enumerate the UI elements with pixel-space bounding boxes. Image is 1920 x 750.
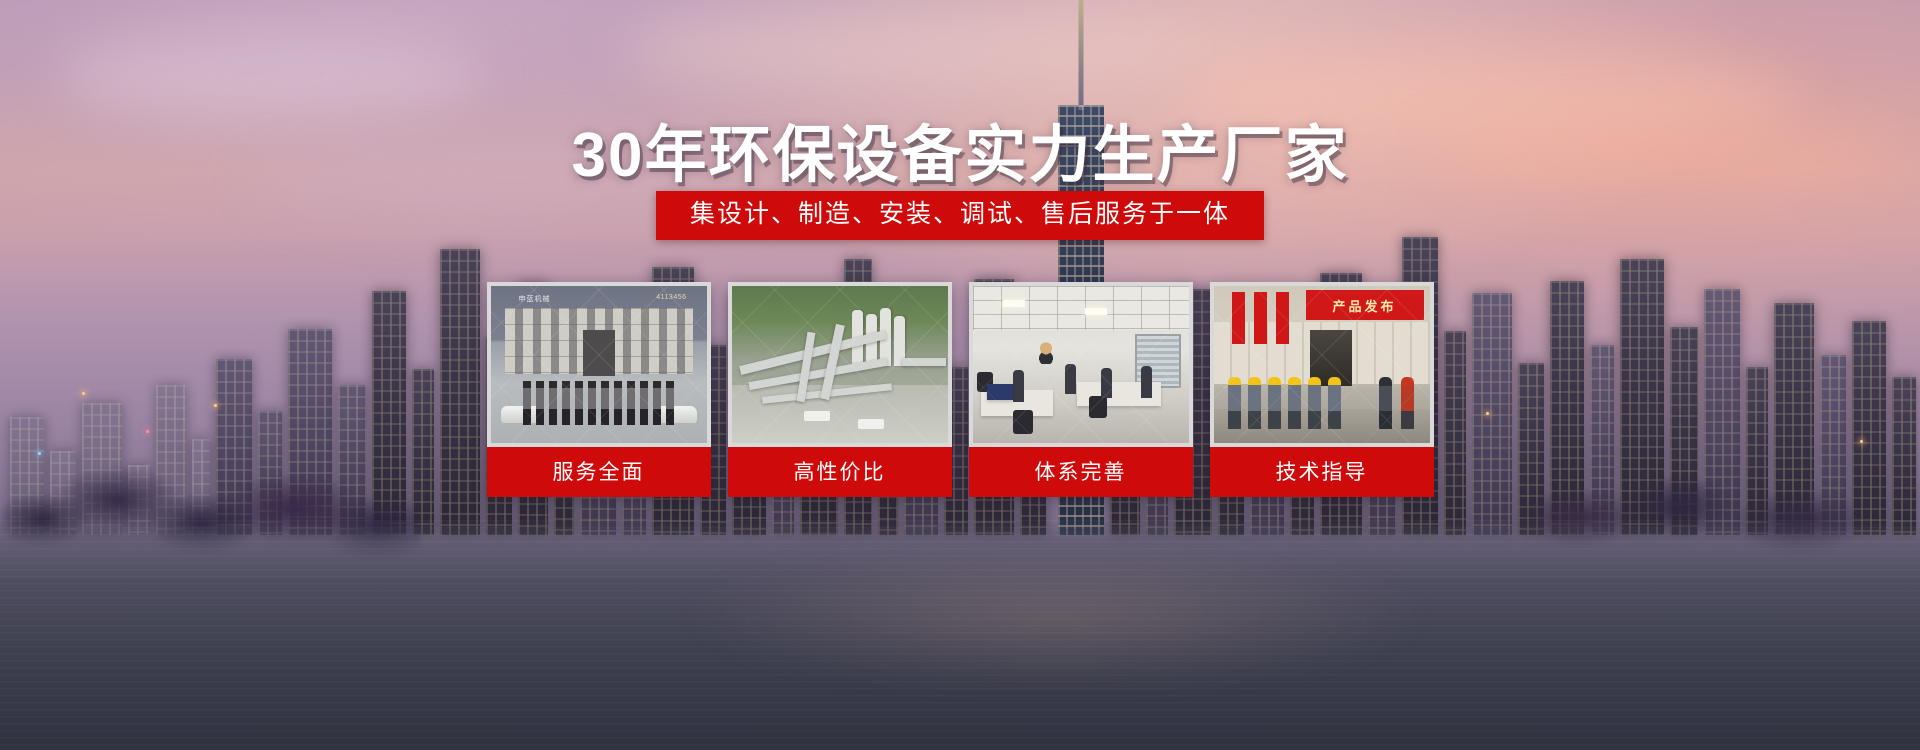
feature-card-caption: 高性价比 xyxy=(728,447,952,497)
subtitle-ribbon: 集设计、制造、安装、调试、售后服务于一体 xyxy=(656,191,1264,240)
feature-card[interactable]: 申蓝机械 4113456 服务全面 xyxy=(487,282,711,497)
office-interior-photo xyxy=(973,286,1189,443)
hero-banner: 30年环保设备实力生产厂家 集设计、制造、安装、调试、售后服务于一体 申蓝机械 … xyxy=(0,0,1920,750)
feature-card[interactable]: 体系完善 xyxy=(969,282,1193,497)
building-sign-label: 申蓝机械 xyxy=(519,294,551,304)
factory-gate-workers-photo: 产品发布 xyxy=(1214,286,1430,443)
company-building-staff-photo: 申蓝机械 4113456 xyxy=(491,286,707,443)
subtitle-ribbon-wrap: 集设计、制造、安装、调试、售后服务于一体 xyxy=(0,191,1920,240)
feature-card-caption: 技术指导 xyxy=(1210,447,1434,497)
water-glow xyxy=(676,540,1436,690)
feature-card-caption: 服务全面 xyxy=(487,447,711,497)
feature-card-caption: 体系完善 xyxy=(969,447,1193,497)
feature-card[interactable]: 产品发布 技术指导 xyxy=(1210,282,1434,497)
feature-card-row: 申蓝机械 4113456 服务全面 xyxy=(0,282,1920,497)
factory-banner-text: 产品发布 xyxy=(1306,290,1424,320)
feature-card[interactable]: 高性价比 xyxy=(728,282,952,497)
building-phone-label: 4113456 xyxy=(656,294,686,301)
page-title: 30年环保设备实力生产厂家 xyxy=(0,104,1920,194)
industrial-plant-aerial-photo xyxy=(732,286,948,443)
